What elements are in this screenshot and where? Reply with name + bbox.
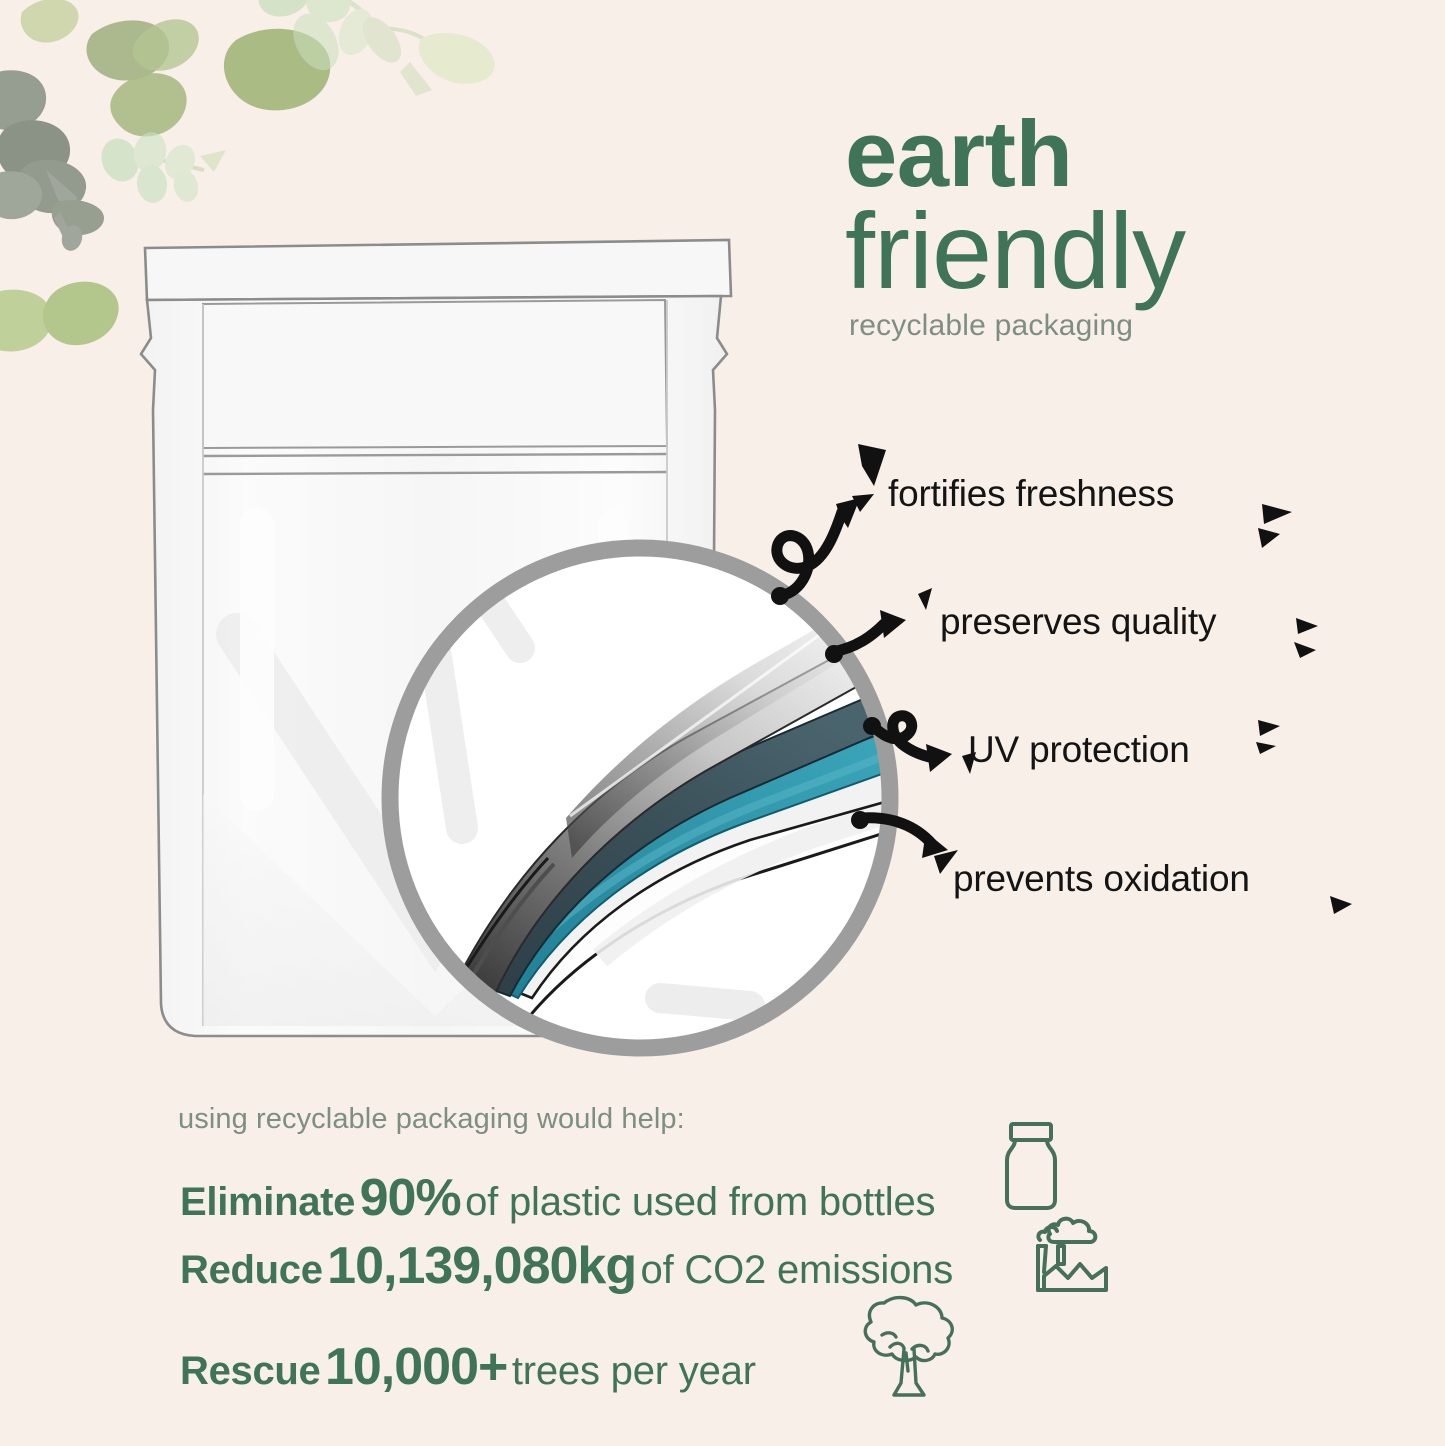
- factory-icon: [1028, 1212, 1112, 1298]
- pouch-top-seal: [145, 240, 731, 300]
- tree-icon: [838, 1291, 960, 1409]
- stat-number-1: 90%: [360, 1169, 461, 1227]
- stat-tail-1: of plastic used from bottles: [465, 1180, 935, 1224]
- stat-row-eliminate: Eliminate 90% of plastic used from bottl…: [180, 1168, 935, 1228]
- stat-lead-1: Eliminate: [180, 1180, 355, 1224]
- bottle-icon: [997, 1118, 1065, 1214]
- infographic-canvas: earth friendly recyclable packaging fort…: [0, 0, 1445, 1446]
- leaves-decoration-top: [250, 0, 570, 200]
- feature-label-fortifies-freshness: fortifies freshness: [888, 473, 1174, 515]
- pouch-top-panel: [203, 300, 667, 448]
- stat-lead-2: Reduce: [180, 1248, 323, 1292]
- headline-subtitle: recyclable packaging: [849, 309, 1405, 343]
- stat-tail-3: trees per year: [512, 1349, 756, 1393]
- feature-label-preserves-quality: preserves quality: [940, 601, 1216, 643]
- headline-line-2: friendly: [845, 200, 1405, 303]
- stat-row-reduce: Reduce 10,139,080kg of CO2 emissions: [180, 1236, 953, 1296]
- stat-number-3: 10,000+: [325, 1338, 507, 1396]
- magnified-layer-cross-section: [370, 528, 910, 1068]
- feature-label-prevents-oxidation: prevents oxidation: [953, 858, 1250, 900]
- stats-intro-text: using recyclable packaging would help:: [178, 1103, 685, 1136]
- stat-tail-2: of CO2 emissions: [641, 1248, 953, 1292]
- headline-line-1: earth: [845, 108, 1405, 200]
- feature-label-uv-protection: UV protection: [968, 729, 1190, 771]
- stat-number-2: 10,139,080kg: [327, 1237, 636, 1295]
- stat-row-rescue: Rescue 10,000+ trees per year: [180, 1337, 756, 1397]
- headline-block: earth friendly recyclable packaging: [845, 108, 1405, 343]
- stat-lead-3: Rescue: [180, 1349, 321, 1393]
